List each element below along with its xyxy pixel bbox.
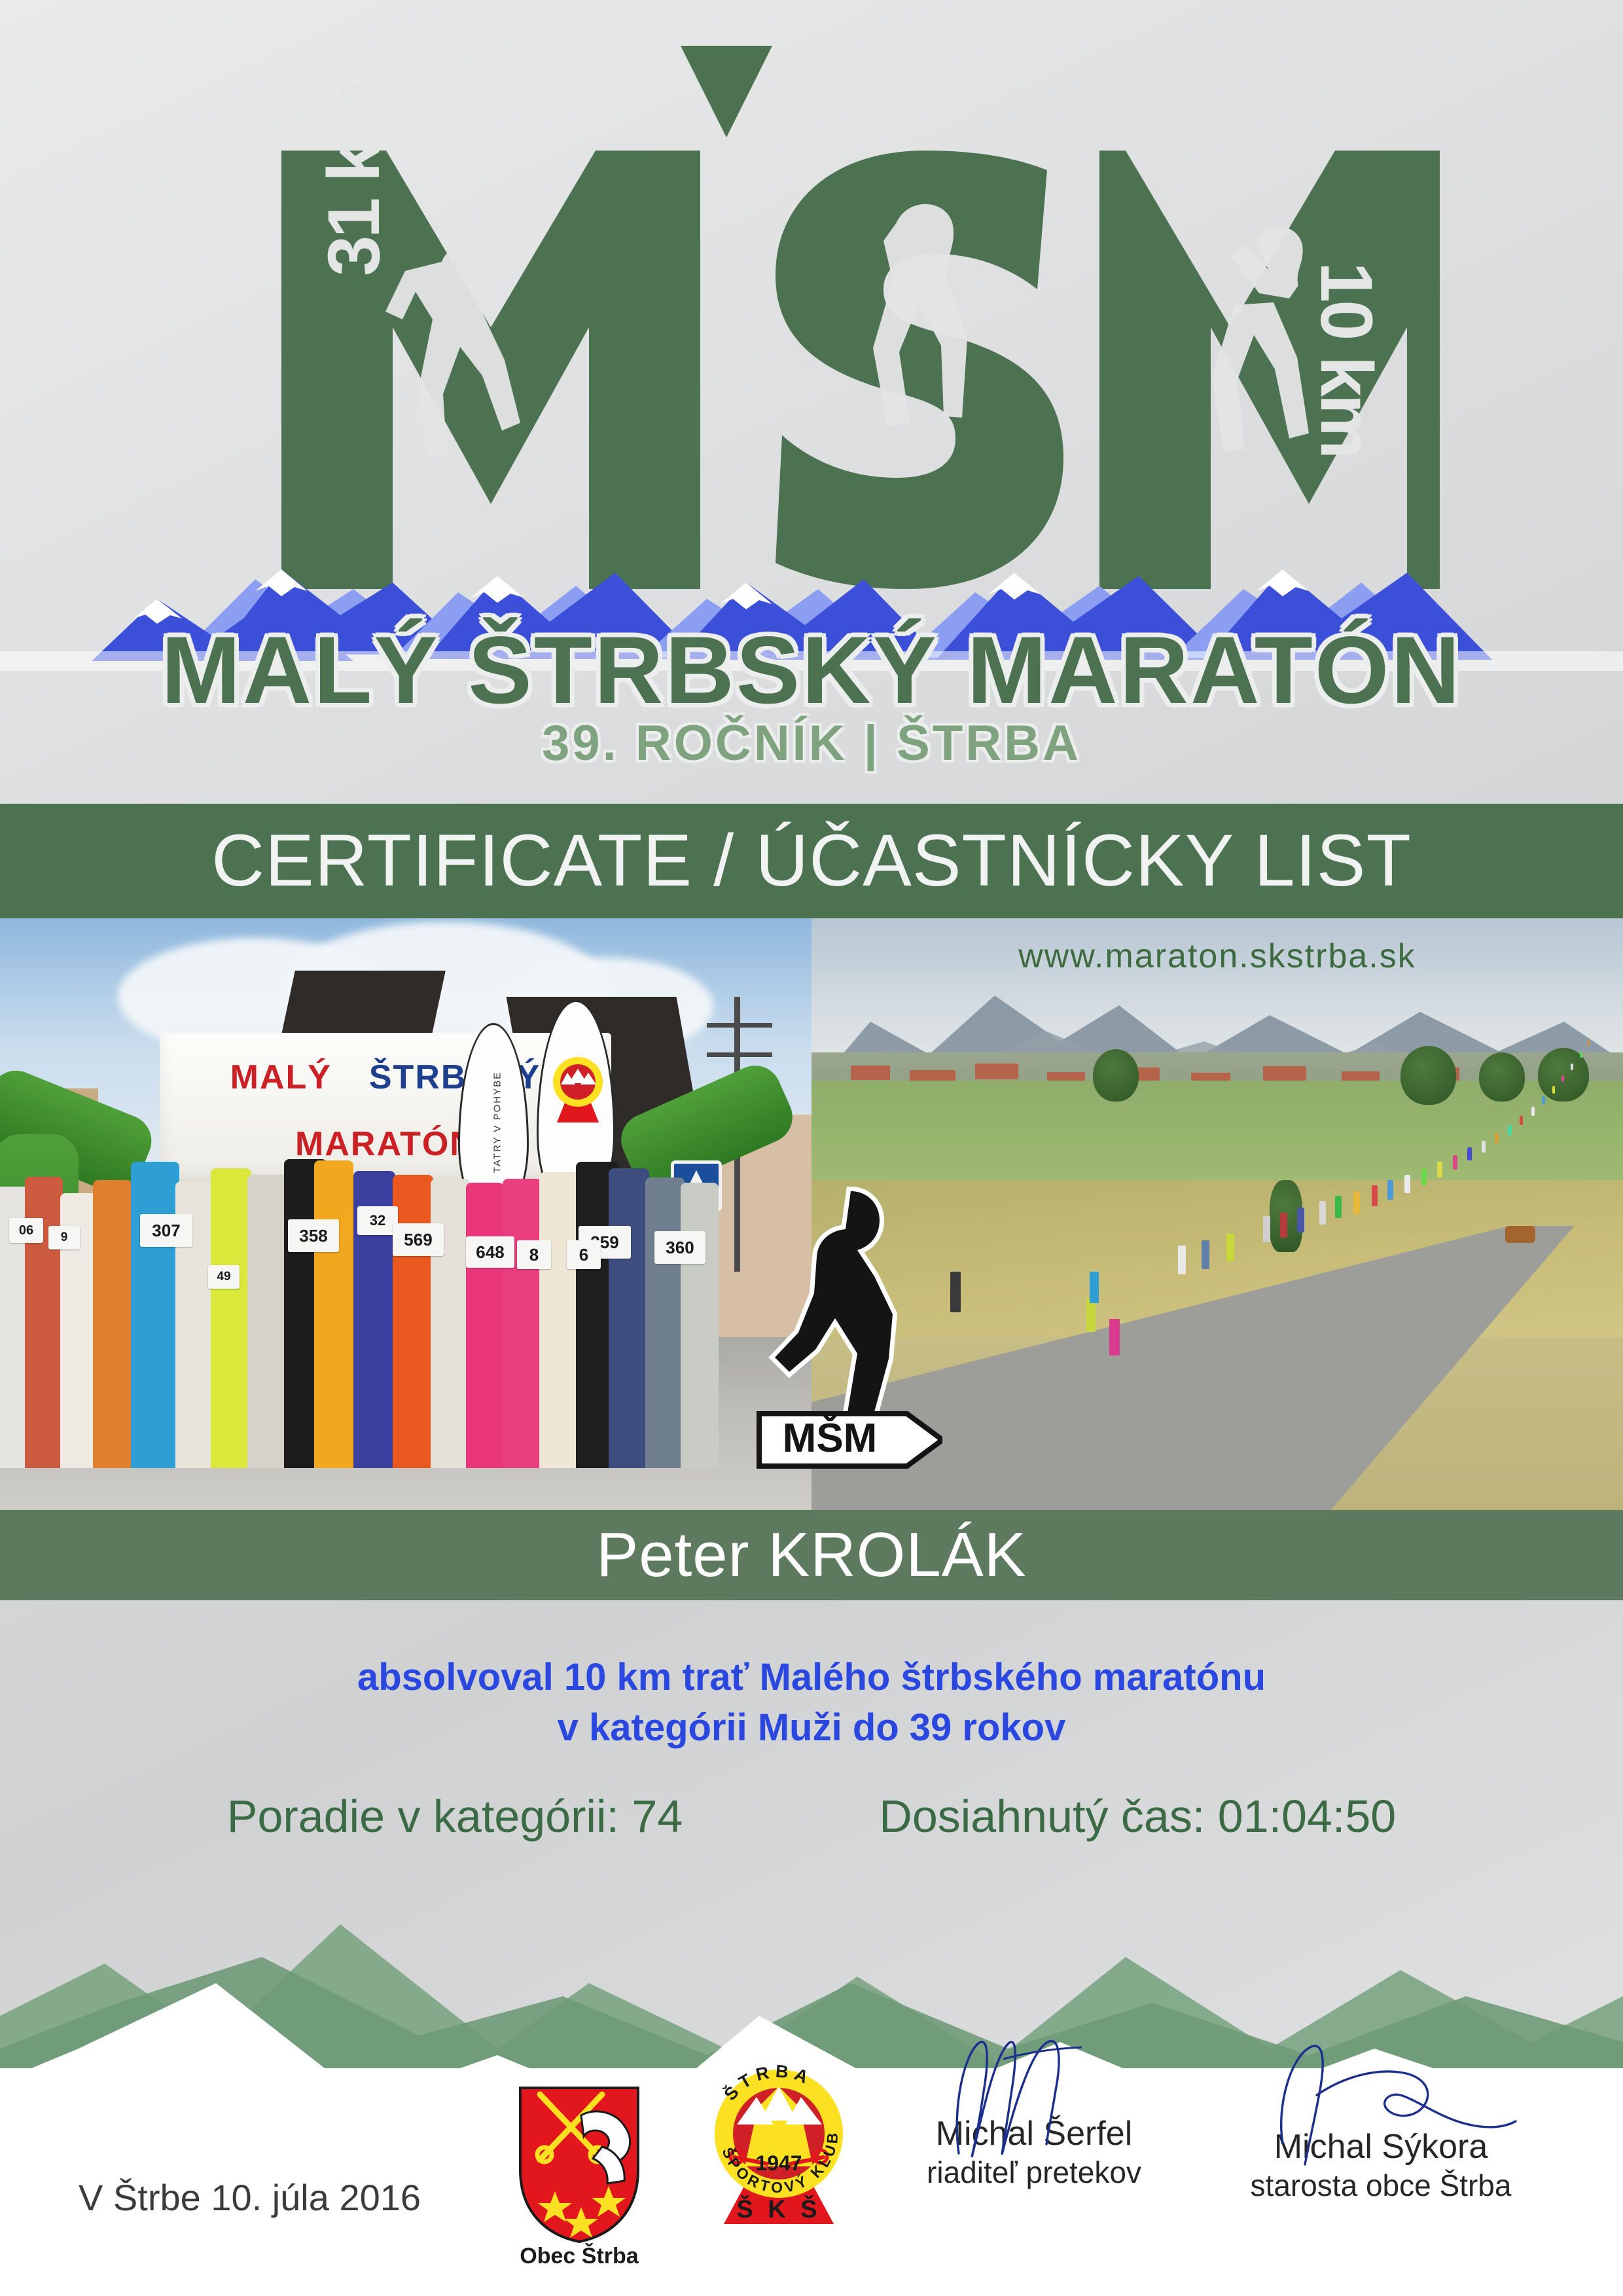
runner — [1453, 1155, 1457, 1170]
website-url: www.maraton.skstrba.sk — [811, 937, 1623, 976]
town-roof — [851, 1066, 890, 1080]
runner — [1495, 1133, 1499, 1143]
town-roof — [975, 1064, 1018, 1079]
runner — [1387, 1180, 1393, 1200]
participant-description: absolvoval 10 km trať Malého štrbského m… — [0, 1653, 1623, 1753]
finish-time: Dosiahnutý čas: 01:04:50 — [879, 1790, 1396, 1842]
tree — [1400, 1046, 1456, 1105]
participant-name: Peter KROLÁK — [0, 1519, 1623, 1591]
bib-number: 8 — [517, 1240, 551, 1269]
runner — [1531, 1107, 1535, 1116]
spectator — [1090, 1272, 1099, 1303]
runner — [393, 1175, 433, 1468]
signature-block-mayor: Michal Sýkora starosta obce Štrba — [1211, 2127, 1551, 2203]
club-initials: Š K Š — [736, 2194, 821, 2223]
runner — [1508, 1125, 1512, 1136]
bib-number: 9 — [48, 1226, 80, 1249]
signature-block-director: Michal Šerfel riaditeľ pretekov — [864, 2114, 1204, 2190]
runner — [466, 1183, 504, 1468]
runner — [131, 1162, 179, 1468]
runner — [431, 1179, 470, 1468]
bib-number: 360 — [654, 1231, 705, 1264]
runner — [1421, 1168, 1427, 1185]
bib-number: 358 — [288, 1219, 339, 1252]
bib-number: 32 — [357, 1206, 398, 1235]
runner — [1178, 1246, 1186, 1274]
logo-area: 31 km 10 km MALÝ ŠTRBSKÝ MARATÓN — [0, 0, 1623, 795]
distance-left-label: 31 km — [312, 81, 396, 276]
sks-club-logo-icon: ŠTRBA ŠPORTOVÝ KLUB 1947 Š K Š — [694, 2042, 864, 2232]
bib-number: 648 — [466, 1236, 514, 1268]
runner — [645, 1177, 685, 1468]
town-roof — [1263, 1066, 1306, 1081]
runner — [314, 1160, 353, 1468]
runner — [1482, 1141, 1486, 1153]
msm-wordmark: MŠM — [759, 1414, 942, 1466]
event-subtitle: 39. ROČNÍK | ŠTRBA — [0, 715, 1623, 772]
runner — [1520, 1116, 1523, 1125]
obec-strba-shield-icon — [504, 2081, 654, 2245]
bib-number: 569 — [393, 1223, 444, 1256]
runner — [539, 1172, 580, 1468]
runner — [1263, 1216, 1270, 1242]
runner — [1580, 1052, 1582, 1058]
sports-club-logo: ŠTRBA ŠPORTOVÝ KLUB 1947 Š K Š — [694, 2042, 864, 2232]
flag-tatry-label: TATRY V POHYBE — [492, 1047, 503, 1198]
arch-word-maraton: MARATÓN — [295, 1125, 476, 1163]
bib-number: 06 — [9, 1218, 43, 1243]
msm-runner-emblem: MŠM — [753, 1178, 942, 1473]
footer: V Štrbe 10. júla 2016 Obec Štr — [0, 2121, 1623, 2296]
runner — [1437, 1162, 1442, 1177]
place-and-date: V Štrbe 10. júla 2016 — [79, 2176, 421, 2219]
signature-role-director: riaditeľ pretekov — [864, 2155, 1204, 2190]
bib-number: 6 — [567, 1240, 601, 1269]
signature-name-director: Michal Šerfel — [864, 2114, 1204, 2153]
runner — [1588, 1040, 1590, 1046]
runner — [93, 1180, 132, 1468]
arch-word-maly: MALÝ — [230, 1058, 332, 1096]
runner — [1297, 1208, 1304, 1232]
certificate-heading: CERTIFICATE / ÚČASTNÍCKY LIST — [0, 818, 1623, 903]
runner — [609, 1168, 649, 1468]
bib-number: 307 — [140, 1214, 192, 1247]
utility-crossbar — [707, 1052, 772, 1057]
utility-crossbar — [707, 1023, 772, 1028]
runner — [247, 1175, 288, 1468]
club-year: 1947 — [755, 2151, 802, 2175]
runner — [1109, 1319, 1120, 1355]
runner — [1372, 1185, 1378, 1206]
distance-right-label: 10 km — [1304, 262, 1389, 457]
bib-number: 49 — [208, 1265, 240, 1289]
runner — [211, 1168, 251, 1468]
results-row: Poradie v kategórii: 74 Dosiahnutý čas: … — [0, 1790, 1623, 1842]
runner — [1226, 1234, 1234, 1261]
cow — [1505, 1226, 1535, 1243]
runner — [1202, 1240, 1209, 1269]
description-line-2: v kategórii Muži do 39 rokov — [0, 1703, 1623, 1753]
participant-name-band: Peter KROLÁK — [0, 1510, 1623, 1600]
runner — [1404, 1175, 1410, 1193]
certificate-page: 31 km 10 km MALÝ ŠTRBSKÝ MARATÓN — [0, 0, 1623, 2296]
event-title: MALÝ ŠTRBSKÝ MARATÓN — [0, 615, 1623, 725]
runner — [681, 1183, 719, 1468]
certificate-band: CERTIFICATE / ÚČASTNÍCKY LIST — [0, 804, 1623, 918]
photo-race-start: MALÝ ŠTRBSKÝ MARATÓN ŠTART - CIEĽ TATRY … — [0, 918, 811, 1510]
runner — [1467, 1147, 1472, 1160]
spectator — [950, 1272, 961, 1312]
runner — [1280, 1213, 1287, 1238]
runner — [1353, 1192, 1360, 1214]
runner — [1571, 1064, 1573, 1070]
signature-name-mayor: Michal Sýkora — [1211, 2127, 1551, 2166]
runner — [1319, 1201, 1326, 1225]
tree — [1479, 1052, 1525, 1102]
runner — [1542, 1096, 1545, 1104]
runner — [503, 1179, 542, 1468]
tree — [1093, 1049, 1139, 1102]
runner — [1596, 1027, 1597, 1032]
runner — [1335, 1196, 1342, 1218]
signature-role-mayor: starosta obce Štrba — [1211, 2168, 1551, 2203]
msm-runner-icon: MŠM — [753, 1178, 942, 1473]
msm-monogram: 31 km 10 km — [183, 46, 1440, 576]
municipality-label: Obec Štrba — [504, 2244, 654, 2269]
municipality-coat-of-arms: Obec Štrba — [504, 2081, 654, 2248]
description-line-1: absolvoval 10 km trať Malého štrbského m… — [0, 1653, 1623, 1703]
category-rank: Poradie v kategórii: 74 — [227, 1790, 683, 1842]
sks-flag-logo-icon — [539, 1043, 617, 1128]
runner — [1561, 1075, 1564, 1082]
runner — [1552, 1086, 1555, 1094]
svg-text:MŠM: MŠM — [783, 1416, 878, 1461]
